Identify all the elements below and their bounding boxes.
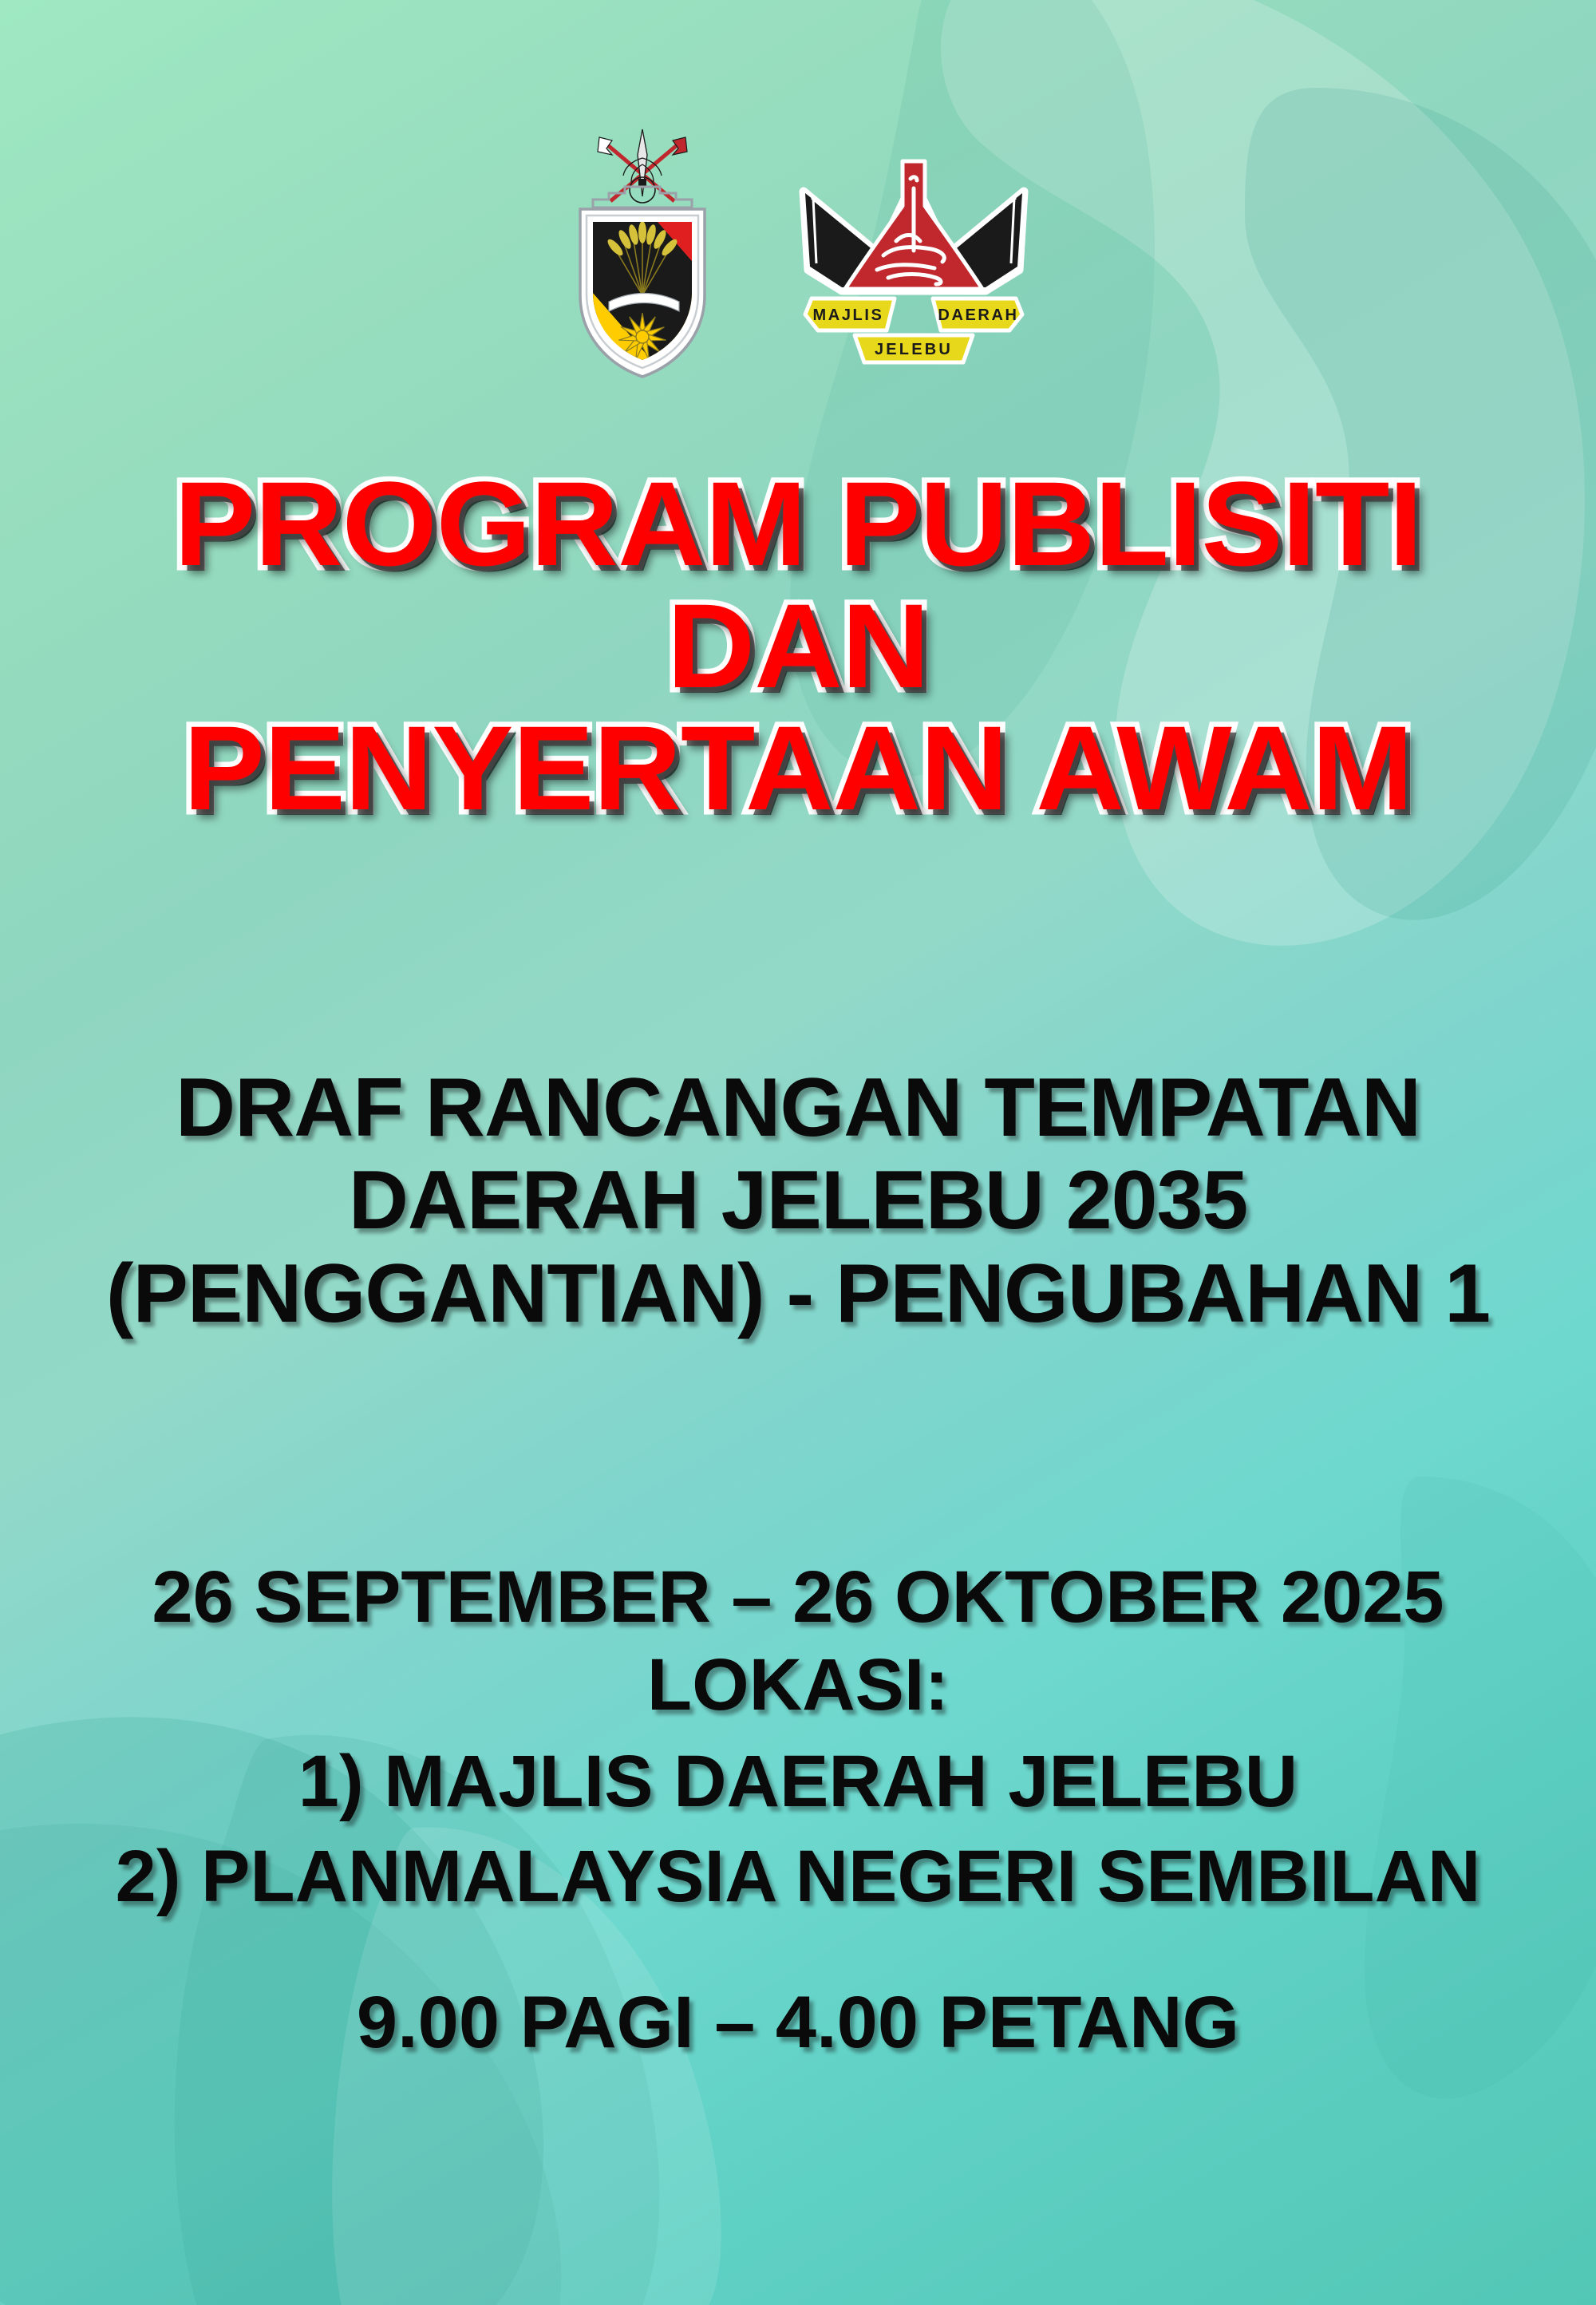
subtitle-line-2: DAERAH JELEBU 2035 — [0, 1154, 1596, 1247]
details-block: 26 SEPTEMBER – 26 OKTOBER 2025 LOKASI: 1… — [0, 1556, 1596, 2059]
banner-left-text: MAJLIS — [813, 306, 884, 324]
headline-line-3: PENYERTAAN AWAM — [0, 707, 1596, 829]
subtitle-line-1: DRAF RANCANGAN TEMPATAN — [0, 1062, 1596, 1154]
banner-bottom-text: JELEBU — [875, 341, 953, 358]
headline-line-2: DAN — [0, 585, 1596, 707]
poster-canvas: MAJLIS DAERAH JELEBU PROGRAM PUBLISITI D… — [0, 0, 1596, 2305]
headline-line-1: PROGRAM PUBLISITI — [0, 463, 1596, 585]
location-item-1: 1) MAJLIS DAERAH JELEBU — [0, 1733, 1596, 1831]
banner-right-text: DAERAH — [938, 306, 1018, 324]
subtitle-line-3: (PENGGANTIAN) - PENGUBAHAN 1 — [0, 1247, 1596, 1340]
headline-block: PROGRAM PUBLISITI DAN PENYERTAAN AWAM — [0, 463, 1596, 829]
time-range: 9.00 PAGI – 4.00 PETANG — [0, 1986, 1596, 2059]
majlis-daerah-jelebu-icon: MAJLIS DAERAH JELEBU — [794, 150, 1033, 366]
date-range: 26 SEPTEMBER – 26 OKTOBER 2025 — [0, 1556, 1596, 1639]
location-label: LOKASI: — [0, 1639, 1596, 1733]
negeri-sembilan-coat-of-arms-icon — [563, 120, 722, 383]
location-item-2: 2) PLANMALAYSIA NEGERI SEMBILAN — [0, 1831, 1596, 1923]
subtitle-block: DRAF RANCANGAN TEMPATAN DAERAH JELEBU 20… — [0, 1062, 1596, 1340]
logo-row: MAJLIS DAERAH JELEBU — [0, 120, 1596, 383]
